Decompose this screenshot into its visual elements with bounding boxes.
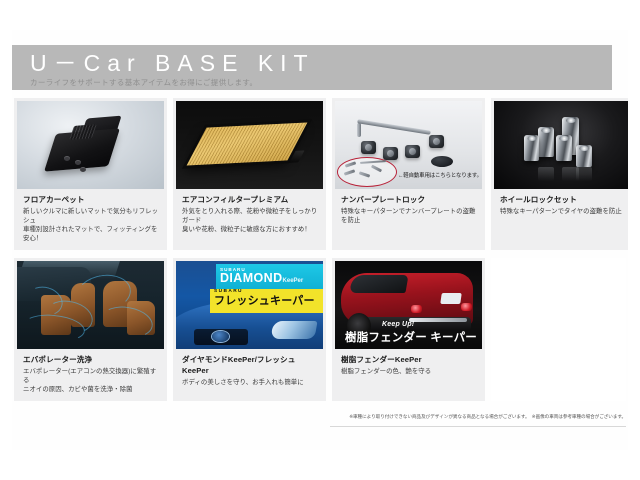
aircon-filter-photo (176, 101, 323, 189)
subaru-keeper-banner-photo: SUBARU DIAMONDKeePer SUBARU フレッシュキーパー (176, 261, 323, 349)
product-title: ナンバープレートロック (341, 194, 477, 205)
keeper-word: KeePer (283, 278, 304, 284)
frame-left-margin (0, 0, 12, 480)
product-caption: 樹脂フェンダーKeePer 樹脂フェンダーの色、艶を守る (335, 349, 482, 393)
product-card-number-plate-lock[interactable]: ←軽自動車用はこちらとなります。 ナンバープレートロック 特殊なキーパターンでナ… (332, 98, 485, 250)
diamond-word: DIAMOND (220, 271, 283, 285)
product-title: エアコンフィルタープレミアム (182, 194, 318, 205)
catalog-sheet: U－Car BASE KIT カーライフをサポートする基本アイテムをお得にご提供… (12, 30, 628, 450)
product-card-diamond-fresh-keeper[interactable]: SUBARU DIAMONDKeePer SUBARU フレッシュキーパー (173, 258, 326, 401)
wheel-lock-photo (494, 101, 628, 189)
product-card-empty-slot (491, 258, 626, 401)
product-caption: ナンバープレートロック 特殊なキーパターンでナンバープレートの盗難を防止 (335, 189, 482, 233)
product-desc-line-1: エバポレーター(エアコンの熱交換器)に繁殖する (23, 367, 159, 385)
product-title: エバポレーター洗浄 (23, 354, 159, 365)
product-desc-line-1: 特殊なキーパターンでナンバープレートの盗難を防止 (341, 207, 477, 225)
fender-keeper-title: 樹脂フェンダー キーパー (345, 329, 473, 345)
diamond-keeper-banner: SUBARU DIAMONDKeePer (216, 264, 323, 290)
diamond-banner-title: DIAMONDKeePer (220, 272, 323, 288)
frame-bottom-margin (0, 450, 640, 480)
red-suv-rear-photo: Keep Up! 樹脂フェンダー キーパー (335, 261, 482, 349)
product-desc-line-1: 樹脂フェンダーの色、艶を守る (341, 367, 477, 376)
product-card-evaporator-cleaning[interactable]: エバポレーター洗浄 エバポレーター(エアコンの熱交換器)に繁殖する ニオイの原因… (14, 258, 167, 401)
product-title: 樹脂フェンダーKeePer (341, 354, 477, 365)
car-interior-airflow-photo (17, 261, 164, 349)
product-desc-line-2: 臭いや花粉、微粒子に敏感な方におすすめ！ (182, 225, 318, 234)
product-desc-line-1: ボディの美しさを守り、お手入れも簡単に (182, 378, 318, 387)
product-desc-line-1: 外気をとり入れる際、花粉や微粒子をしっかりガード (182, 207, 318, 225)
product-caption: エアコンフィルタープレミアム 外気をとり入れる際、花粉や微粒子をしっかりガード … (176, 189, 323, 237)
product-card-aircon-filter[interactable]: エアコンフィルタープレミアム 外気をとり入れる際、花粉や微粒子をしっかりガード … (173, 98, 326, 250)
floor-mat-photo (17, 101, 164, 189)
product-caption: エバポレーター洗浄 エバポレーター(エアコンの熱交換器)に繁殖する ニオイの原因… (17, 349, 164, 397)
product-grid: フロアカーペット 新しいクルマに新しいマットで気分もリフレッシュ 車種別設計され… (14, 98, 626, 409)
product-title: ダイヤモンドKeePer/フレッシュKeePer (182, 354, 318, 376)
product-title: フロアカーペット (23, 194, 159, 205)
product-desc-line-2: ニオイの原因、カビや菌を洗浄・除菌 (23, 385, 159, 394)
page-root: U－Car BASE KIT カーライフをサポートする基本アイテムをお得にご提供… (0, 0, 640, 480)
product-caption: ダイヤモンドKeePer/フレッシュKeePer ボディの美しさを守り、お手入れ… (176, 349, 323, 393)
product-desc-line-1: 新しいクルマに新しいマットで気分もリフレッシュ (23, 207, 159, 225)
product-desc-line-2: 車種別設計されたマットで、フィッティングを安心！ (23, 225, 159, 243)
product-title: ホイールロックセット (500, 194, 628, 205)
number-plate-lock-photo: ←軽自動車用はこちらとなります。 (335, 101, 482, 189)
product-desc-line-1: 特殊なキーパターンでタイヤの盗難を防止 (500, 207, 628, 216)
product-caption: ホイールロックセット 特殊なキーパターンでタイヤの盗難を防止 (494, 189, 628, 233)
product-caption: フロアカーペット 新しいクルマに新しいマットで気分もリフレッシュ 車種別設計され… (17, 189, 164, 246)
footer-disclaimer: ※車種により取り付けできない商品及びデザインが異なる商品となる場合がございます。… (349, 414, 626, 420)
product-row-2: エバポレーター洗浄 エバポレーター(エアコンの熱交換器)に繁殖する ニオイの原因… (14, 258, 626, 401)
product-row-1: フロアカーペット 新しいクルマに新しいマットで気分もリフレッシュ 車種別設計され… (14, 98, 626, 250)
fresh-banner-title: フレッシュキーパー (214, 295, 323, 308)
product-card-floor-carpet[interactable]: フロアカーペット 新しいクルマに新しいマットで気分もリフレッシュ 車種別設計され… (14, 98, 167, 250)
page-subtitle: カーライフをサポートする基本アイテムをお得にご提供します。 (30, 78, 612, 88)
catalog-header-banner: U－Car BASE KIT カーライフをサポートする基本アイテムをお得にご提供… (12, 45, 612, 90)
page-title: U－Car BASE KIT (30, 51, 612, 76)
product-card-wheel-lock-set[interactable]: ホイールロックセット 特殊なキーパターンでタイヤの盗難を防止 (491, 98, 628, 250)
product-card-resin-fender-keeper[interactable]: Keep Up! 樹脂フェンダー キーパー 樹脂フェンダーKeePer 樹脂フェ… (332, 258, 485, 401)
frame-top-margin (0, 0, 640, 30)
fresh-keeper-banner: SUBARU フレッシュキーパー (210, 289, 323, 313)
keep-up-tagline: Keep Up! (382, 321, 414, 328)
kei-car-annotation: ←軽自動車用はこちらとなります。 (398, 171, 482, 179)
frame-right-margin (628, 0, 640, 480)
footer-divider (330, 426, 626, 427)
